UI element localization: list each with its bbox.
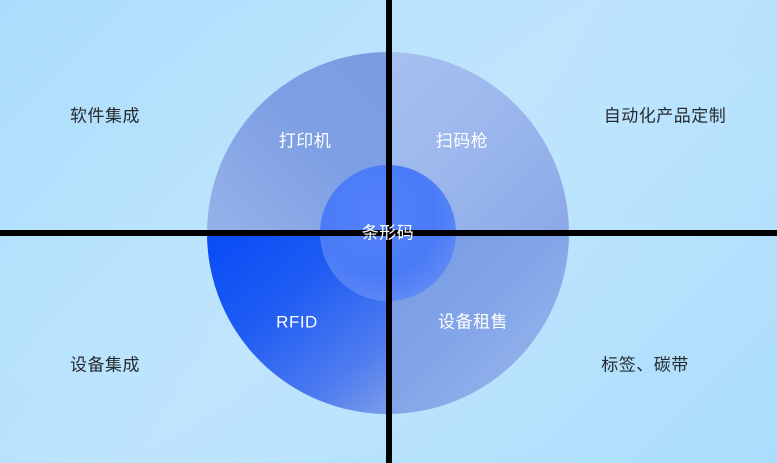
segment-label-equipment-rent: 设备租售 bbox=[438, 314, 508, 331]
segment-label-printer: 打印机 bbox=[279, 133, 332, 150]
diagram-canvas: 打印机 扫码枪 RFID 设备租售 条形码 软件集成 自动化产品定制 设备集成 … bbox=[0, 0, 777, 463]
outer-label-software-integration: 软件集成 bbox=[70, 108, 140, 125]
outer-label-labels-ribbons: 标签、碳带 bbox=[601, 357, 689, 374]
segment-label-scanner: 扫码枪 bbox=[436, 133, 489, 150]
segment-label-rfid: RFID bbox=[276, 314, 318, 331]
center-label-barcode: 条形码 bbox=[362, 225, 415, 242]
outer-label-device-integration: 设备集成 bbox=[70, 357, 140, 374]
outer-label-automation-customized: 自动化产品定制 bbox=[604, 108, 727, 125]
